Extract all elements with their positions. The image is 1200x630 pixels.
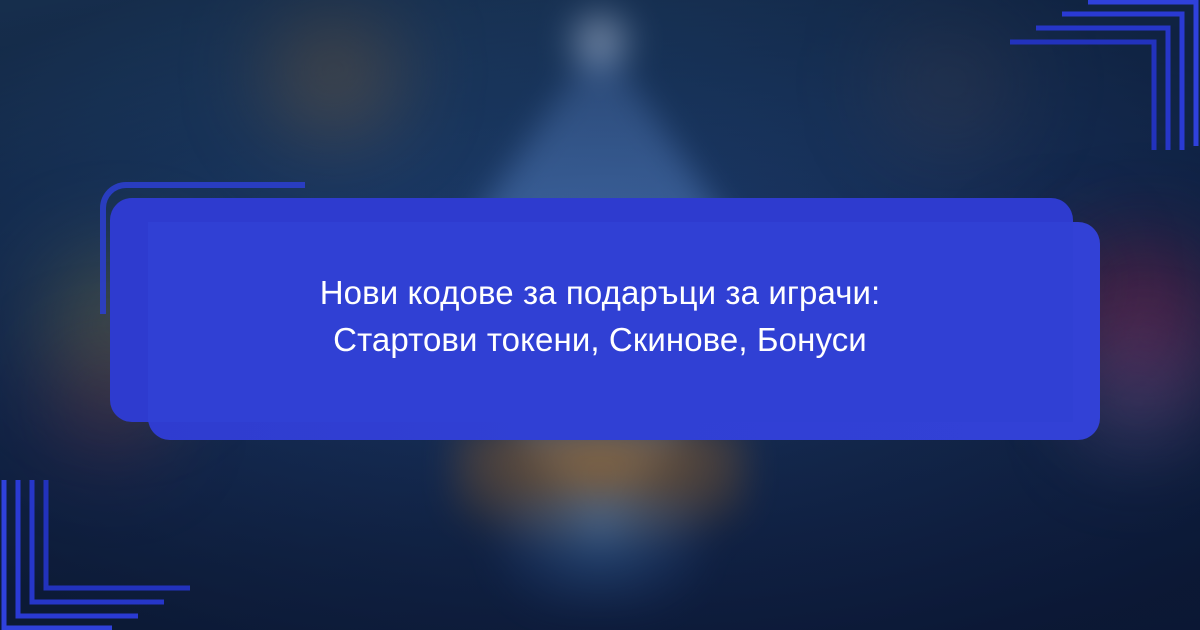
headline-line-2: Стартови токени, Скинове, Бонуси: [0, 317, 1200, 364]
promo-banner: Нови кодове за подаръци за играчи: Старт…: [0, 0, 1200, 630]
headline-line-1: Нови кодове за подаръци за играчи:: [0, 270, 1200, 317]
headline: Нови кодове за подаръци за играчи: Старт…: [0, 270, 1200, 364]
